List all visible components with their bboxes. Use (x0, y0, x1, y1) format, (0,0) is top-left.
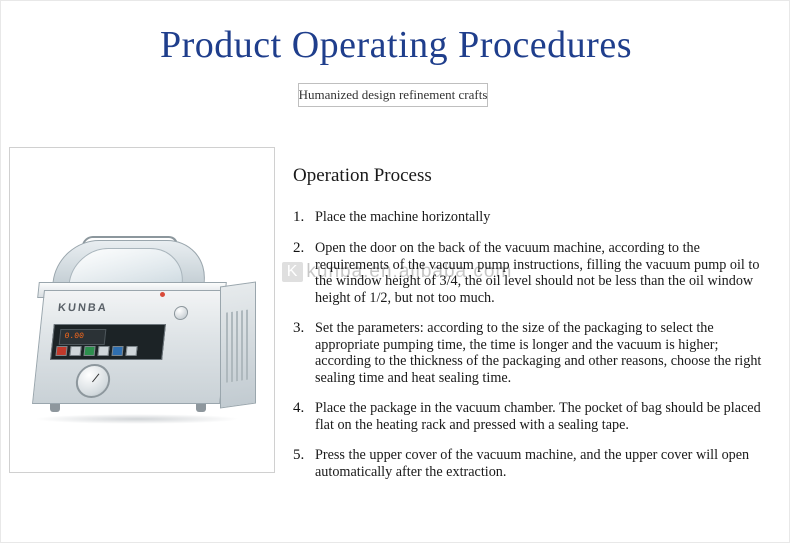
list-item: 4. Place the package in the vacuum chamb… (293, 400, 775, 433)
step-text: Open the door on the back of the vacuum … (315, 240, 775, 306)
machine-side-vents (220, 281, 256, 408)
subtitle-text: Humanized design refinement crafts (299, 87, 488, 103)
machine-button-2 (98, 346, 110, 356)
step-number: 2. (293, 240, 315, 257)
step-number: 3. (293, 320, 315, 337)
machine-button-green (84, 346, 96, 356)
step-number: 1. (293, 209, 315, 226)
step-number: 5. (293, 447, 315, 464)
step-text: Place the package in the vacuum chamber.… (315, 400, 775, 433)
machine-shadow (34, 414, 240, 424)
subtitle-box: Humanized design refinement crafts (298, 83, 488, 107)
machine-foot-left (50, 404, 60, 412)
machine-control-panel: 0.00 (50, 324, 166, 360)
machine-foot-right (196, 404, 206, 412)
machine-button-row (56, 346, 138, 356)
machine-display: 0.00 (59, 329, 107, 345)
machine-button-1 (70, 346, 82, 356)
gauge-needle-icon (92, 374, 99, 383)
section-heading: Operation Process (293, 165, 775, 187)
step-text: Press the upper cover of the vacuum mach… (315, 447, 775, 480)
list-item: 1. Place the machine horizontally (293, 209, 775, 226)
list-item: 2. Open the door on the back of the vacu… (293, 240, 775, 306)
operation-process-section: Operation Process 1. Place the machine h… (293, 165, 775, 494)
product-image-panel: KUNBA 0.00 (9, 147, 275, 473)
list-item: 3. Set the parameters: according to the … (293, 320, 775, 386)
machine-display-value: 0.00 (64, 333, 84, 341)
machine-button-blue (112, 346, 124, 356)
product-operating-procedures-page: Product Operating Procedures Humanized d… (0, 0, 790, 543)
machine-button-3 (126, 346, 138, 356)
list-item: 5. Press the upper cover of the vacuum m… (293, 447, 775, 480)
step-number: 4. (293, 400, 315, 417)
page-title: Product Operating Procedures (1, 23, 790, 67)
machine-indicator-dot (160, 292, 165, 297)
step-text: Set the parameters: according to the siz… (315, 320, 775, 386)
machine-button-red (56, 346, 68, 356)
vacuum-machine-illustration: KUNBA 0.00 (24, 240, 264, 440)
machine-brand-label: KUNBA (57, 302, 108, 314)
step-text: Place the machine horizontally (315, 209, 775, 226)
